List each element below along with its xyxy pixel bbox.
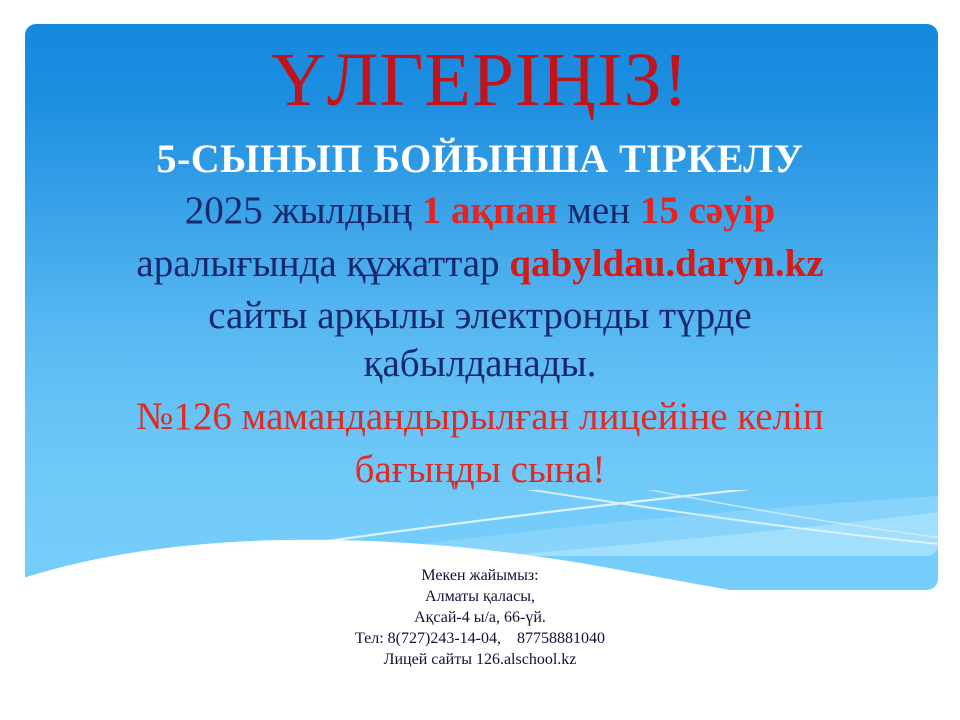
between-text: мен — [557, 189, 639, 232]
address-city: Алматы қаласы, — [0, 586, 960, 607]
address-label: Мекен жайымыз: — [0, 565, 960, 586]
headline-title: ҮЛГЕРІҢІЗ! — [0, 0, 960, 118]
date-from: 1 ақпан — [422, 189, 558, 232]
lyceum-website: Лицей сайты 126.alschool.kz — [0, 649, 960, 670]
date-to: 15 сәуір — [640, 189, 775, 232]
slide-text-content: ҮЛГЕРІҢІЗ! 5-СЫНЫП БОЙЫНША ТІРКЕЛУ 2025 … — [0, 0, 960, 493]
date-range-line: 2025 жылдың 1 ақпан мен 15 сәуір — [0, 180, 960, 233]
contact-footer: Мекен жайымыз: Алматы қаласы, Ақсай-4 ы/… — [0, 565, 960, 671]
accepted-line: қабылданады. — [0, 338, 960, 386]
website-link[interactable]: qabyldau.daryn.kz — [509, 242, 823, 285]
callout-line-1: №126 мамандандырылған лицейіне келіп — [0, 386, 960, 439]
subheadline: 5-СЫНЫП БОЙЫНША ТІРКЕЛУ — [0, 118, 960, 180]
phone-numbers: Тел: 8(727)243-14-04, 87758881040 — [0, 628, 960, 649]
documents-text: аралығында құжаттар — [136, 242, 509, 285]
year-text: 2025 жылдың — [185, 189, 422, 232]
documents-website-line: аралығында құжаттар qabyldau.daryn.kz — [0, 233, 960, 286]
address-street: Ақсай-4 ы/а, 66-үй. — [0, 607, 960, 628]
announcement-slide: ҮЛГЕРІҢІЗ! 5-СЫНЫП БОЙЫНША ТІРКЕЛУ 2025 … — [0, 0, 960, 720]
callout-line-2: бағыңды сына! — [0, 439, 960, 492]
electronic-submission-line: сайты арқылы электронды түрде — [0, 285, 960, 338]
